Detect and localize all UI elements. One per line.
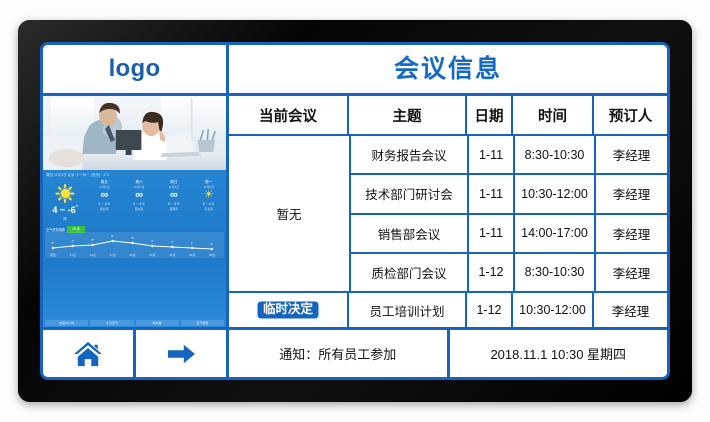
table-grid: 当前会议 主题 日期 时间 预订人 暂无 财务报告会议 <box>229 96 667 327</box>
sun-icon <box>56 184 75 203</box>
cell-time: 8:30-10:30 <box>515 254 596 291</box>
cell-owner: 李经理 <box>596 175 667 212</box>
title-cell: 会议信息 <box>229 45 667 93</box>
svg-text:17点: 17点 <box>109 252 115 257</box>
schedule-rows: 财务报告会议 1-11 8:30-10:30 李经理 技术部门研讨会 1-11 … <box>351 136 667 291</box>
weather-widget[interactable]: 周四 11月1日 北京 十一月一 (农历) - 3°C <box>43 170 226 327</box>
forecast-day-wind: 西南风 <box>170 207 179 211</box>
cell-topic: 财务报告会议 <box>351 136 469 173</box>
weather-tab[interactable]: 今日天气 <box>90 320 133 326</box>
svg-text:20点: 20点 <box>129 252 135 257</box>
cloudy-icon: ∞ <box>100 189 108 202</box>
display-bezel: logo 会议信息 <box>18 20 692 402</box>
weather-temp-unit: ° <box>76 205 78 211</box>
weather-headline-text: 周四 11月1日 北京 十一月一 (农历) - 3°C <box>46 172 223 179</box>
weather-tab[interactable]: 未来24小时 <box>45 320 88 326</box>
photo-image <box>43 96 226 170</box>
cell-owner: 李经理 <box>596 136 667 173</box>
cell-temporary-badge[interactable]: 临时决定 <box>229 293 349 327</box>
cell-time: 10:30-12:00 <box>515 175 596 212</box>
table-row[interactable]: 技术部门研讨会 1-11 10:30-12:00 李经理 <box>351 175 667 214</box>
cell-time: 8:30-10:30 <box>515 136 596 173</box>
column-header-date: 日期 <box>467 96 513 134</box>
table-row[interactable]: 财务报告会议 1-11 8:30-10:30 李经理 <box>351 136 667 175</box>
svg-text:6°: 6° <box>111 234 115 238</box>
svg-text:23点: 23点 <box>149 252 155 257</box>
cell-date: 1-11 <box>469 215 515 252</box>
svg-text:5°: 5° <box>91 238 95 242</box>
svg-text:现在: 现在 <box>50 252 56 257</box>
cell-topic: 技术部门研讨会 <box>351 175 469 212</box>
cloudy-icon: ∞ <box>170 189 178 202</box>
forecast-day-wind: 东北风 <box>204 207 213 211</box>
weather-today-desc: 晴 <box>63 216 66 221</box>
cell-owner: 李经理 <box>596 254 667 291</box>
svg-text:0°: 0° <box>211 242 215 246</box>
svg-text:3°: 3° <box>52 241 56 245</box>
display-screen: logo 会议信息 <box>40 42 670 380</box>
left-panel: 周四 11月1日 北京 十一月一 (农历) - 3°C <box>43 96 229 327</box>
cell-date: 1-12 <box>467 293 513 327</box>
office-photo <box>43 96 226 170</box>
svg-text:4°: 4° <box>71 239 75 243</box>
cell-topic: 员工培训计划 <box>349 293 467 327</box>
table-header-row: 当前会议 主题 日期 时间 预订人 <box>229 96 667 136</box>
column-header-topic: 主题 <box>349 96 467 134</box>
cell-date: 1-11 <box>469 136 515 173</box>
weather-tab[interactable]: 空气质量 <box>181 320 224 326</box>
svg-text:02点: 02点 <box>169 252 175 257</box>
cloudy-icon: ∞ <box>135 189 143 202</box>
table-row[interactable]: 销售部会议 1-11 14:00-17:00 李经理 <box>351 215 667 254</box>
weather-headline: 周四 11月1日 北京 十一月一 (农历) - 3°C <box>46 172 223 179</box>
svg-text:14点: 14点 <box>90 252 96 257</box>
weather-today: 4 ~ -6° 晴 <box>43 179 87 225</box>
svg-text:05点: 05点 <box>189 252 195 257</box>
meeting-info-app: logo 会议信息 <box>43 45 667 377</box>
cell-time: 10:30-12:00 <box>513 293 594 327</box>
sun-cloud-icon: ☀ <box>204 189 214 202</box>
content-area: 周四 11月1日 北京 十一月一 (农历) - 3°C <box>43 96 667 330</box>
cell-owner: 李经理 <box>596 215 667 252</box>
cell-owner: 李经理 <box>594 293 667 327</box>
header-bar: logo 会议信息 <box>43 45 667 96</box>
temperature-trend-chart: 3°4°5° 6°5°3° 2°1°0° 现在11点14点 17点20点23点 … <box>45 232 224 258</box>
weather-temp-range: 4 ~ -6 <box>52 205 75 215</box>
svg-text:11点: 11点 <box>70 252 76 257</box>
cell-date: 1-11 <box>469 175 515 212</box>
svg-text:1°: 1° <box>191 241 195 245</box>
screenshot-root: logo 会议信息 <box>0 0 710 422</box>
arrow-right-icon <box>166 341 196 367</box>
svg-text:3°: 3° <box>151 239 155 243</box>
svg-text:2°: 2° <box>171 240 175 244</box>
table-row[interactable]: 质检部门会议 1-12 8:30-10:30 李经理 <box>351 254 667 291</box>
table-body: 暂无 财务报告会议 1-11 8:30-10:30 李经理 <box>229 136 667 291</box>
status-badge[interactable]: 临时决定 <box>256 300 320 320</box>
forecast-day[interactable]: 周六 11月3日 ∞ 5 ~ -4℃ 西北风 <box>122 179 157 225</box>
weather-today-temp: 4 ~ -6° <box>52 205 77 215</box>
column-header-owner: 预订人 <box>594 96 667 134</box>
cell-topic: 质检部门会议 <box>351 254 469 291</box>
meeting-table: 当前会议 主题 日期 时间 预订人 暂无 财务报告会议 <box>229 96 667 327</box>
forecast-day-wind: 西北风 <box>135 207 144 211</box>
column-header-current-meeting: 当前会议 <box>229 96 349 134</box>
column-header-time: 时间 <box>513 96 594 134</box>
weather-forecast-list: 周五 11月2日 ∞ 4 ~ -3℃ 西北风 周六 11月3日 <box>87 179 226 225</box>
forecast-day[interactable]: 周日 11月4日 ∞ 6 ~ -3℃ 西南风 <box>157 179 192 225</box>
weather-tab-bar[interactable]: 未来24小时 今日天气 降水量 空气质量 <box>45 320 224 326</box>
notice-text: 通知：所有员工参加 <box>229 330 450 377</box>
forecast-day-wind: 西北风 <box>100 207 109 211</box>
temporary-meeting-row[interactable]: 临时决定 员工培训计划 1-12 10:30-12:00 李经理 <box>229 291 667 327</box>
home-icon <box>73 341 103 367</box>
footer-bar: 通知：所有员工参加 2018.11.1 10:30 星期四 <box>43 330 667 377</box>
logo-cell[interactable]: logo <box>43 45 229 93</box>
home-button[interactable] <box>43 330 136 377</box>
cell-date: 1-12 <box>469 254 515 291</box>
cell-topic: 销售部会议 <box>351 215 469 252</box>
next-page-button[interactable] <box>136 330 229 377</box>
clock-text: 2018.11.1 10:30 星期四 <box>450 330 668 377</box>
forecast-day[interactable]: 周一 11月5日 ☀ 8 ~ -1℃ 东北风 <box>191 179 226 225</box>
forecast-day[interactable]: 周五 11月2日 ∞ 4 ~ -3℃ 西北风 <box>87 179 122 225</box>
svg-text:08点: 08点 <box>209 252 215 257</box>
svg-text:5°: 5° <box>131 236 135 240</box>
page-title: 会议信息 <box>394 57 502 82</box>
weather-tab[interactable]: 降水量 <box>136 320 179 326</box>
weather-body: 4 ~ -6° 晴 周五 11月2日 ∞ 4 ~ -3℃ <box>43 179 226 225</box>
current-meeting-value: 暂无 <box>229 136 351 291</box>
logo-text: logo <box>109 57 161 81</box>
cell-time: 14:00-17:00 <box>515 215 596 252</box>
